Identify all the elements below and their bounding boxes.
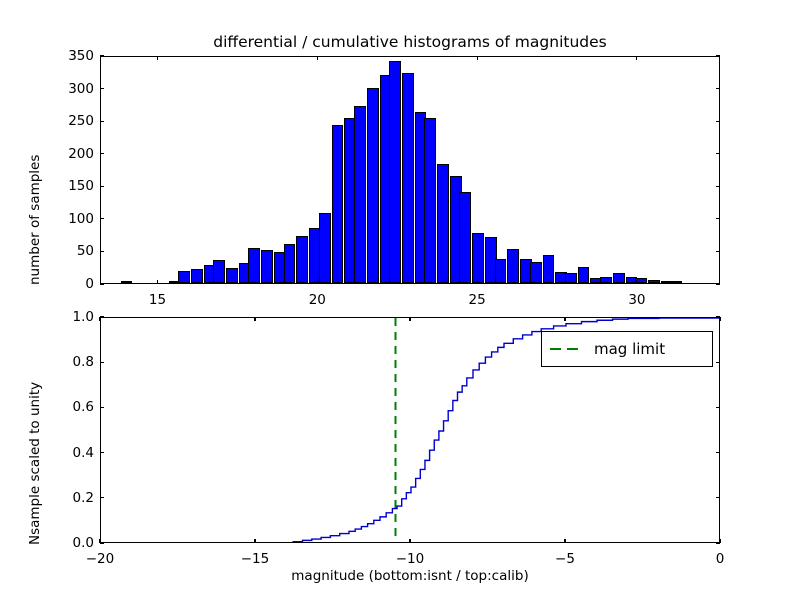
bottom-panel-ylabel: Nsample scaled to unity bbox=[27, 382, 43, 545]
histogram-bar bbox=[495, 259, 507, 283]
histogram-bar bbox=[284, 244, 296, 283]
top-y-tick bbox=[100, 121, 104, 122]
top-y-tick-right bbox=[716, 186, 720, 187]
histogram-bar bbox=[319, 213, 331, 283]
bottom-x-tick-label: 0 bbox=[690, 551, 750, 567]
top-y-tick bbox=[100, 55, 104, 56]
top-panel-ylabel: number of samples bbox=[27, 155, 43, 285]
bottom-y-tick-label: 0.8 bbox=[50, 354, 94, 370]
legend[interactable]: mag limit bbox=[541, 331, 713, 367]
bottom-x-tick-upper bbox=[564, 317, 565, 321]
mag-limit-line-icon bbox=[550, 348, 580, 350]
bottom-x-tick bbox=[409, 539, 410, 543]
histogram-bar bbox=[367, 88, 379, 283]
top-y-tick-label: 250 bbox=[50, 113, 94, 129]
top-y-tick-right bbox=[716, 153, 720, 154]
histogram-bar bbox=[402, 73, 414, 283]
histogram-bar bbox=[354, 106, 366, 283]
bottom-y-tick-right bbox=[716, 452, 720, 453]
histogram-bar bbox=[670, 281, 682, 283]
bottom-y-tick-label: 0.4 bbox=[50, 445, 94, 461]
bottom-x-tick-upper bbox=[719, 317, 720, 321]
chart-title: differential / cumulative histograms of … bbox=[100, 33, 720, 51]
bottom-x-tick-upper bbox=[254, 317, 255, 321]
top-y-tick bbox=[100, 251, 104, 252]
histogram-bar bbox=[332, 125, 344, 283]
histogram-bar bbox=[178, 271, 190, 283]
top-y-tick-right bbox=[716, 121, 720, 122]
figure: differential / cumulative histograms of … bbox=[0, 0, 800, 600]
top-x-tick bbox=[636, 280, 637, 284]
top-y-tick-right bbox=[716, 251, 720, 252]
top-y-tick bbox=[100, 218, 104, 219]
top-y-tick-label: 150 bbox=[50, 178, 94, 194]
histogram-bar bbox=[565, 273, 577, 283]
bottom-y-tick-right bbox=[716, 407, 720, 408]
histogram-bar bbox=[248, 248, 260, 283]
histogram-bar bbox=[296, 236, 308, 283]
top-x-tick-label: 20 bbox=[287, 292, 347, 308]
bottom-y-tick-right bbox=[716, 362, 720, 363]
bottom-y-tick bbox=[100, 497, 104, 498]
top-x-tick-label: 30 bbox=[607, 292, 667, 308]
bottom-x-tick-upper bbox=[99, 317, 100, 321]
top-y-tick-label: 100 bbox=[50, 211, 94, 227]
histogram-bar bbox=[437, 164, 449, 283]
histogram-bar bbox=[459, 192, 471, 283]
top-x-tick bbox=[157, 280, 158, 284]
histogram-bar bbox=[613, 273, 625, 283]
histogram-bar bbox=[424, 118, 436, 283]
top-y-tick-right bbox=[716, 55, 720, 56]
bottom-y-tick-label: 0.2 bbox=[50, 490, 94, 506]
top-y-tick-label: 0 bbox=[50, 276, 94, 292]
bottom-y-tick bbox=[100, 452, 104, 453]
top-y-tick-right bbox=[716, 218, 720, 219]
histogram-plot-area bbox=[101, 57, 719, 283]
top-y-tick-label: 50 bbox=[50, 243, 94, 259]
bottom-x-tick bbox=[254, 539, 255, 543]
top-y-tick bbox=[100, 186, 104, 187]
bottom-x-tick bbox=[99, 539, 100, 543]
histogram-bar bbox=[213, 260, 225, 283]
top-y-tick-right bbox=[716, 283, 720, 284]
top-y-tick bbox=[100, 283, 104, 284]
bottom-y-tick bbox=[100, 316, 104, 317]
top-panel-axes bbox=[100, 56, 720, 284]
top-y-tick bbox=[100, 153, 104, 154]
histogram-bar bbox=[578, 267, 590, 283]
bottom-y-tick bbox=[100, 362, 104, 363]
top-x-tick-upper bbox=[477, 56, 478, 60]
top-x-tick-label: 15 bbox=[128, 292, 188, 308]
top-y-tick-label: 300 bbox=[50, 81, 94, 97]
top-y-tick-label: 200 bbox=[50, 146, 94, 162]
histogram-bar bbox=[648, 280, 660, 283]
bottom-y-tick-label: 1.0 bbox=[50, 309, 94, 325]
bottom-x-tick bbox=[719, 539, 720, 543]
histogram-bar bbox=[472, 233, 484, 283]
bottom-y-tick bbox=[100, 407, 104, 408]
bottom-x-tick-label: −15 bbox=[225, 551, 285, 567]
histogram-bar bbox=[261, 250, 273, 283]
top-x-tick-label: 25 bbox=[447, 292, 507, 308]
bottom-x-tick-label: −5 bbox=[535, 551, 595, 567]
bottom-x-tick-label: −10 bbox=[380, 551, 440, 567]
bottom-x-tick-upper bbox=[409, 317, 410, 321]
top-x-tick-upper bbox=[157, 56, 158, 60]
x-axis-label: magnitude (bottom:isnt / top:calib) bbox=[100, 568, 720, 584]
bottom-x-tick-label: −20 bbox=[70, 551, 130, 567]
bottom-y-tick-label: 0.6 bbox=[50, 399, 94, 415]
top-y-tick-label: 350 bbox=[50, 48, 94, 64]
histogram-bar bbox=[507, 249, 519, 283]
histogram-bar bbox=[543, 255, 555, 283]
top-x-tick-upper bbox=[636, 56, 637, 60]
top-x-tick bbox=[477, 280, 478, 284]
histogram-bar bbox=[121, 281, 133, 283]
histogram-bar bbox=[226, 268, 238, 283]
top-x-tick bbox=[317, 280, 318, 284]
top-y-tick-right bbox=[716, 88, 720, 89]
legend-label-mag-limit: mag limit bbox=[594, 340, 665, 358]
bottom-y-tick bbox=[100, 542, 104, 543]
histogram-bar bbox=[530, 262, 542, 283]
histogram-bar bbox=[600, 277, 612, 283]
bottom-x-tick bbox=[564, 539, 565, 543]
bottom-y-tick-label: 0.0 bbox=[50, 535, 94, 551]
histogram-bar bbox=[191, 269, 203, 283]
top-y-tick bbox=[100, 88, 104, 89]
histogram-bar bbox=[389, 61, 401, 283]
bottom-y-tick-right bbox=[716, 497, 720, 498]
top-x-tick-upper bbox=[317, 56, 318, 60]
